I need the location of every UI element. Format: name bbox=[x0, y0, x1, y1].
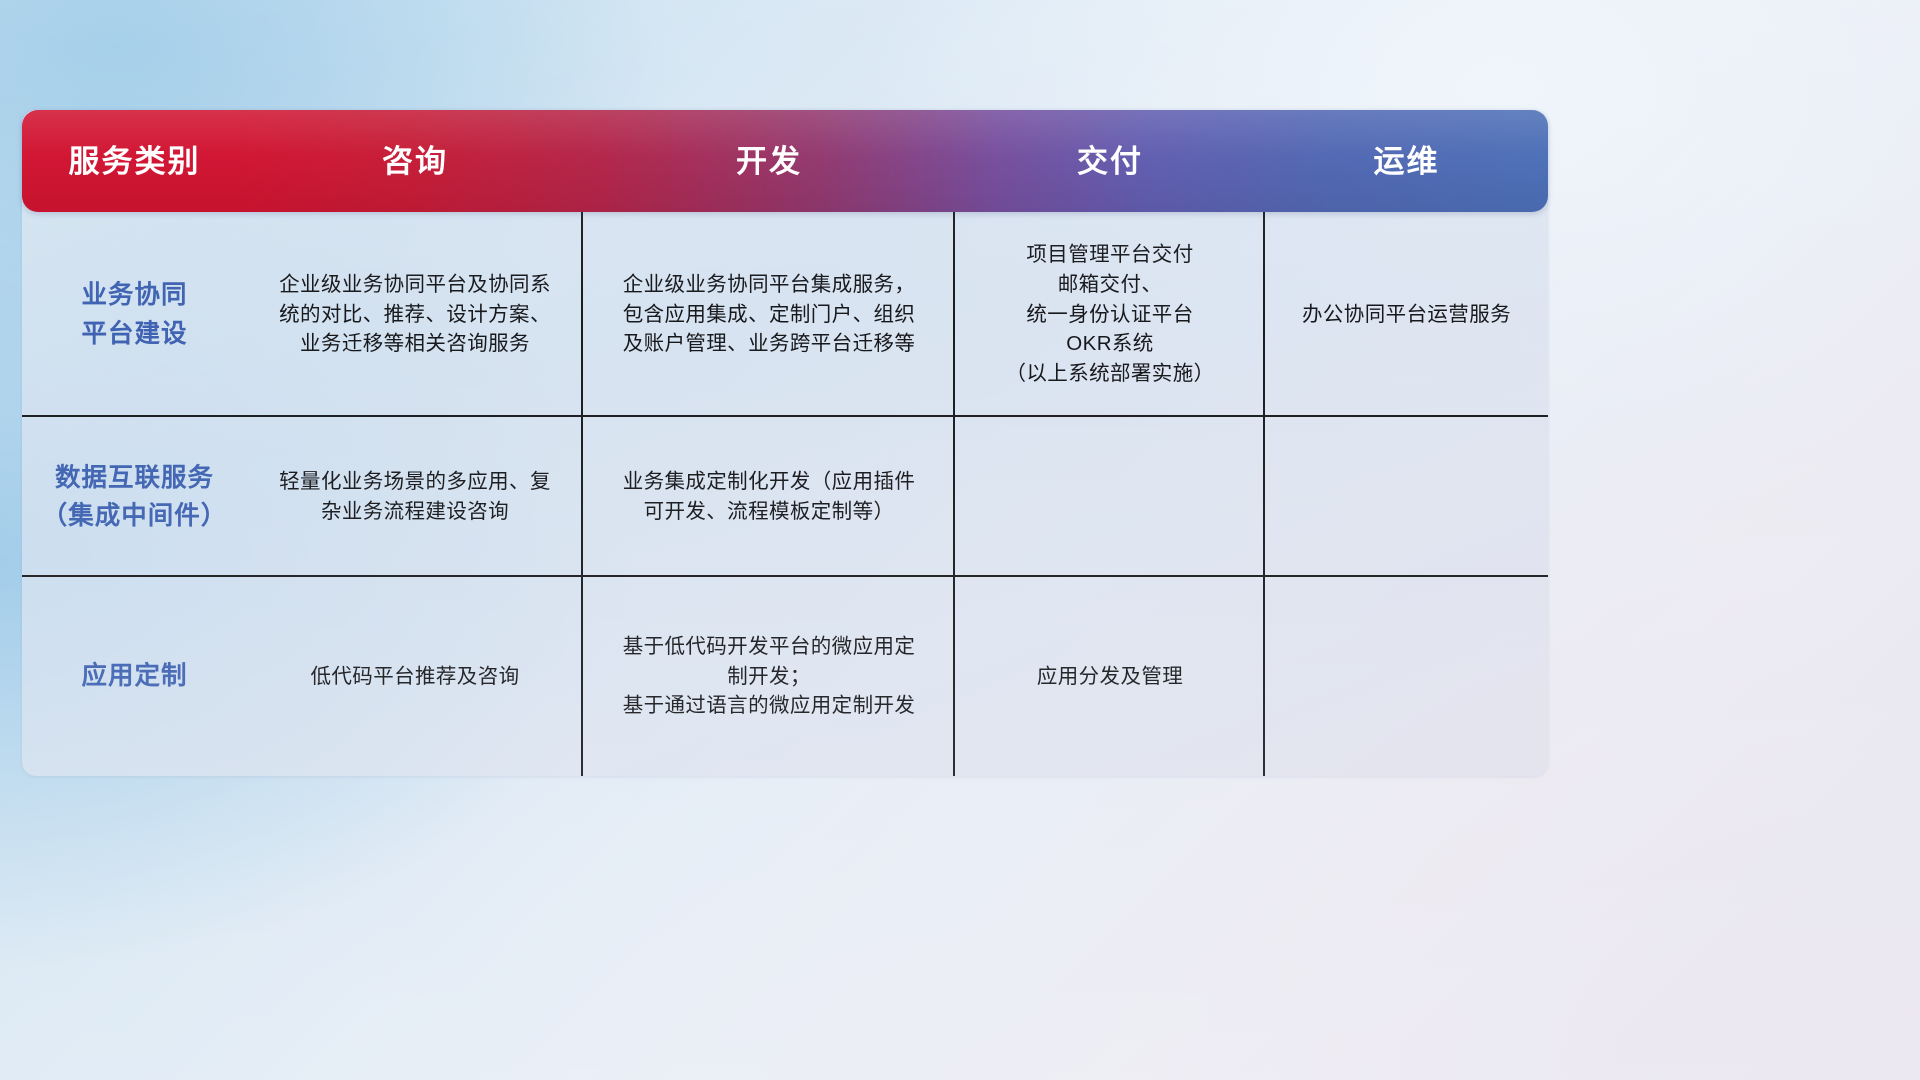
cell-r2-delivery bbox=[955, 417, 1265, 577]
column-header-development: 开发 bbox=[583, 146, 955, 177]
cell-r3-operations bbox=[1265, 577, 1548, 776]
cell-r3-delivery: 应用分发及管理 bbox=[955, 577, 1265, 776]
table-header-row: 服务类别 咨询 开发 交付 运维 bbox=[22, 110, 1548, 212]
cell-r1-consulting: 企业级业务协同平台及协同系 统的对比、推荐、设计方案、 业务迁移等相关咨询服务 bbox=[247, 212, 583, 417]
column-header-operations: 运维 bbox=[1265, 146, 1548, 177]
row-label-data-integration: 数据互联服务 （集成中间件） bbox=[22, 417, 247, 577]
column-header-category: 服务类别 bbox=[22, 146, 247, 177]
cell-r1-development: 企业级业务协同平台集成服务， 包含应用集成、定制门户、组织 及账户管理、业务跨平… bbox=[583, 212, 955, 417]
row-label-app-customization: 应用定制 bbox=[22, 577, 247, 776]
cell-r3-development: 基于低代码开发平台的微应用定 制开发； 基于通过语言的微应用定制开发 bbox=[583, 577, 955, 776]
service-matrix-table: 服务类别 咨询 开发 交付 运维 业务协同 平台建设 企业级业务协同平台及协同系… bbox=[22, 110, 1548, 776]
table-body: 业务协同 平台建设 企业级业务协同平台及协同系 统的对比、推荐、设计方案、 业务… bbox=[22, 212, 1548, 776]
cell-r1-delivery: 项目管理平台交付 邮箱交付、 统一身份认证平台 OKR系统 （以上系统部署实施） bbox=[955, 212, 1265, 417]
slide-canvas: 服务类别 咨询 开发 交付 运维 业务协同 平台建设 企业级业务协同平台及协同系… bbox=[0, 0, 1920, 1080]
cell-r1-operations: 办公协同平台运营服务 bbox=[1265, 212, 1548, 417]
column-header-delivery: 交付 bbox=[955, 146, 1265, 177]
row-label-business-collaboration: 业务协同 平台建设 bbox=[22, 212, 247, 417]
cell-r2-operations bbox=[1265, 417, 1548, 577]
cell-r2-development: 业务集成定制化开发（应用插件 可开发、流程模板定制等） bbox=[583, 417, 955, 577]
column-header-consulting: 咨询 bbox=[247, 146, 583, 177]
cell-r3-consulting: 低代码平台推荐及咨询 bbox=[247, 577, 583, 776]
cell-r2-consulting: 轻量化业务场景的多应用、复 杂业务流程建设咨询 bbox=[247, 417, 583, 577]
